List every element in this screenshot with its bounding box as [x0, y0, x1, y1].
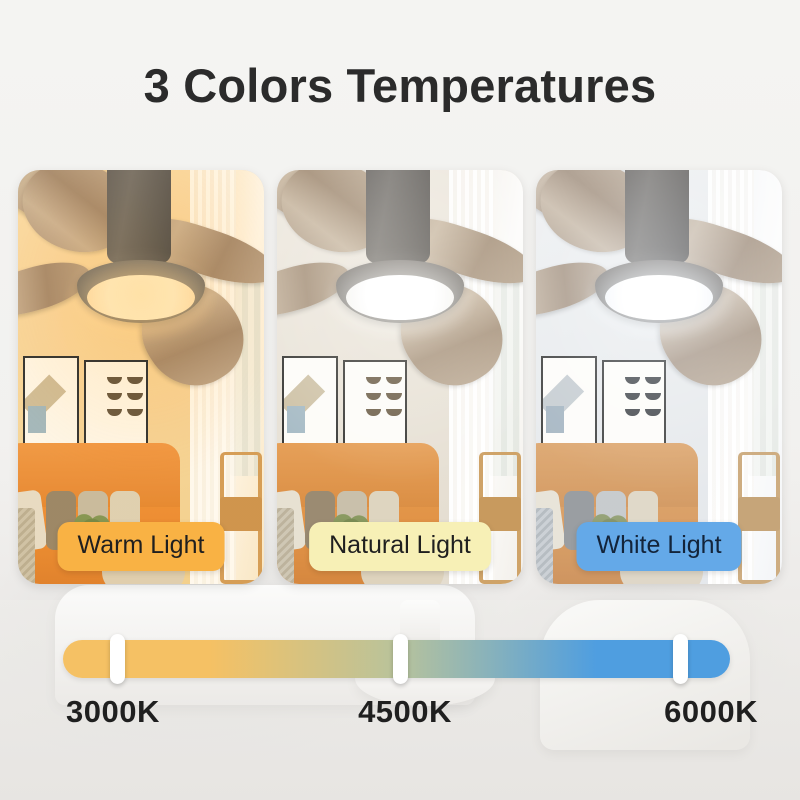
slider-handle-3000k[interactable] — [110, 634, 125, 684]
kelvin-label-4500k: 4500K — [358, 694, 452, 730]
panel-white-light[interactable]: White Light — [536, 170, 782, 584]
color-temperature-panels: Warm Light — [18, 170, 782, 584]
page-title: 3 Colors Temperatures — [0, 58, 800, 113]
label-pill-white-light: White Light — [576, 522, 741, 571]
panel-warm-light[interactable]: Warm Light — [18, 170, 264, 584]
kelvin-label-3000k: 3000K — [66, 694, 160, 730]
slider-handle-4500k[interactable] — [393, 634, 408, 684]
kelvin-label-row: 3000K 4500K 6000K — [40, 694, 770, 740]
label-pill-natural-light: Natural Light — [309, 522, 491, 571]
slider-handle-6000k[interactable] — [673, 634, 688, 684]
label-pill-warm-light: Warm Light — [58, 522, 225, 571]
color-temperature-slider[interactable] — [63, 640, 730, 678]
kelvin-label-6000k: 6000K — [664, 694, 758, 730]
panel-natural-light[interactable]: Natural Light — [277, 170, 523, 584]
